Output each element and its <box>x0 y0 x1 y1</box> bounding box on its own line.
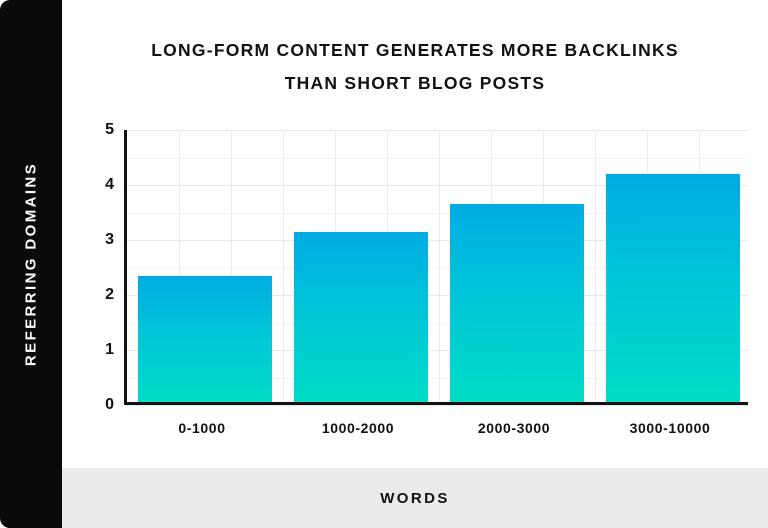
left-rail: REFERRING DOMAINS <box>0 0 62 528</box>
x-axis-title: WORDS <box>380 490 450 507</box>
y-axis-title: REFERRING DOMAINS <box>23 162 40 366</box>
y-tick-label: 5 <box>88 122 114 138</box>
chart-title: LONG-FORM CONTENT GENERATES MORE BACKLIN… <box>62 34 768 100</box>
chart-page: REFERRING DOMAINS LONG-FORM CONTENT GENE… <box>0 0 768 528</box>
plot-area <box>124 130 748 405</box>
y-tick-label: 2 <box>88 287 114 303</box>
x-tick-label: 2000-3000 <box>436 420 592 436</box>
y-tick-label: 3 <box>88 232 114 248</box>
y-axis-tick-labels: 012345 <box>88 126 114 411</box>
chart-title-line-2: THAN SHORT BLOG POSTS <box>62 67 768 100</box>
x-axis-tick-labels: 0-10001000-20002000-30003000-10000 <box>124 420 748 448</box>
gridline-horizontal <box>127 405 748 406</box>
chart-panel: LONG-FORM CONTENT GENERATES MORE BACKLIN… <box>62 0 768 528</box>
x-tick-label: 3000-10000 <box>592 420 748 436</box>
x-tick-label: 1000-2000 <box>280 420 436 436</box>
chart-area: 012345 <box>88 126 748 411</box>
chart-title-line-1: LONG-FORM CONTENT GENERATES MORE BACKLIN… <box>62 34 768 67</box>
y-tick-label: 0 <box>88 397 114 413</box>
bar <box>138 276 271 403</box>
bar <box>450 204 583 402</box>
y-tick-label: 1 <box>88 342 114 358</box>
bar <box>606 174 739 402</box>
bar <box>294 232 427 403</box>
x-tick-label: 0-1000 <box>124 420 280 436</box>
y-tick-label: 4 <box>88 177 114 193</box>
footer-band: WORDS <box>62 468 768 528</box>
bar-series <box>127 130 748 402</box>
